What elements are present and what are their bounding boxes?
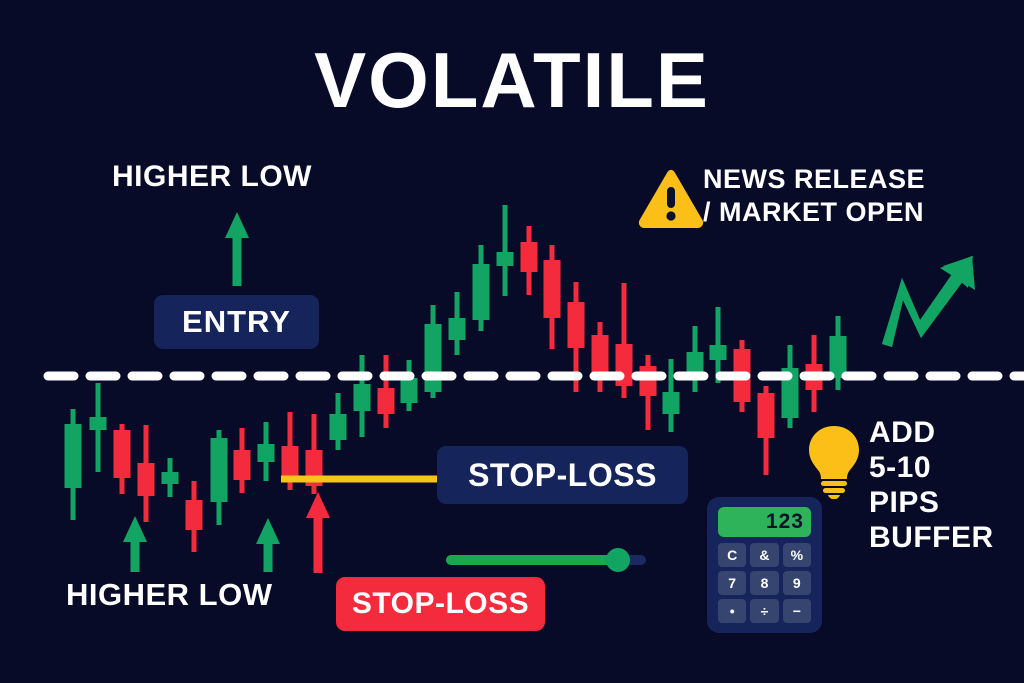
calculator-key-9[interactable]: 9 [783,571,811,595]
candle-body-up [425,324,442,392]
candle-body-down [521,242,538,272]
entry-arrow-up [225,212,249,286]
stop-loss-arrow [306,492,330,573]
calculator-key-%[interactable]: % [783,543,811,567]
news-line-2: / MARKET OPEN [703,196,1003,229]
candle-body-up [258,444,275,462]
slider-fill [446,555,620,565]
higher-low-arrow-1 [123,516,147,572]
tip-line-1: ADD [869,415,994,450]
candle-body-up [473,264,490,320]
candle-body-up [663,392,680,414]
candle-body-up [330,414,347,440]
candle-body-down [186,500,203,530]
annotation-arrow-group [123,212,330,573]
candle-body-up [401,378,418,403]
news-line-1: NEWS RELEASE [703,163,1003,196]
calculator-keypad[interactable]: C&%789•÷− [718,543,811,623]
entry-badge[interactable]: ENTRY [154,295,319,349]
higher-low-arrow-2 [256,518,280,572]
candle-body-up [497,252,514,266]
stop-loss-badge-navy[interactable]: STOP-LOSS [437,446,688,504]
calculator-key-•[interactable]: • [718,599,746,623]
lightbulb-icon [806,424,862,499]
candle-body-down [544,260,561,318]
candle-body-down [138,463,155,496]
calculator-key-÷[interactable]: ÷ [750,599,778,623]
tip-line-2: 5-10 [869,450,994,485]
label-news-release: NEWS RELEASE / MARKET OPEN [703,163,1003,229]
candle-body-down [234,450,251,480]
calculator-key-C[interactable]: C [718,543,746,567]
slider-knob[interactable] [606,548,630,572]
candle-body-up [830,336,847,378]
warning-triangle-icon [637,168,705,230]
calculator-display: 123 [718,507,811,537]
candle-body-up [162,472,179,484]
infographic-canvas: VOLATILE HIGHER LOW HIGHER LOW NEWS RELE… [0,0,1024,683]
calculator-key-−[interactable]: − [783,599,811,623]
candle-body-up [710,345,727,360]
candle-body-up [90,417,107,430]
candle-body-down [568,302,585,348]
trend-up-arrow-icon [876,252,980,350]
candle-body-up [211,438,228,502]
calculator-key-7[interactable]: 7 [718,571,746,595]
label-pips-buffer-tip: ADD 5-10 PIPS BUFFER [869,415,994,555]
calculator-key-8[interactable]: 8 [750,571,778,595]
candle-body-up [65,424,82,488]
candle-body-down [378,388,395,414]
calculator-widget[interactable]: 123 C&%789•÷− [707,497,822,633]
candle-body-down [758,393,775,438]
tip-line-4: BUFFER [869,520,994,555]
page-title: VOLATILE [0,38,1024,122]
candle-body-down [114,430,131,478]
candle-body-up [449,318,466,340]
buffer-slider[interactable] [446,549,646,571]
candle-body-up [354,384,371,411]
label-higher-low-bottom: HIGHER LOW [66,577,273,613]
calculator-key-&[interactable]: & [750,543,778,567]
candle-body-down [640,366,657,396]
label-higher-low-top: HIGHER LOW [112,160,312,194]
stop-loss-badge-red[interactable]: STOP-LOSS [336,577,545,631]
candle-wick [503,205,508,296]
tip-line-3: PIPS [869,485,994,520]
candle-body-down [282,446,299,478]
